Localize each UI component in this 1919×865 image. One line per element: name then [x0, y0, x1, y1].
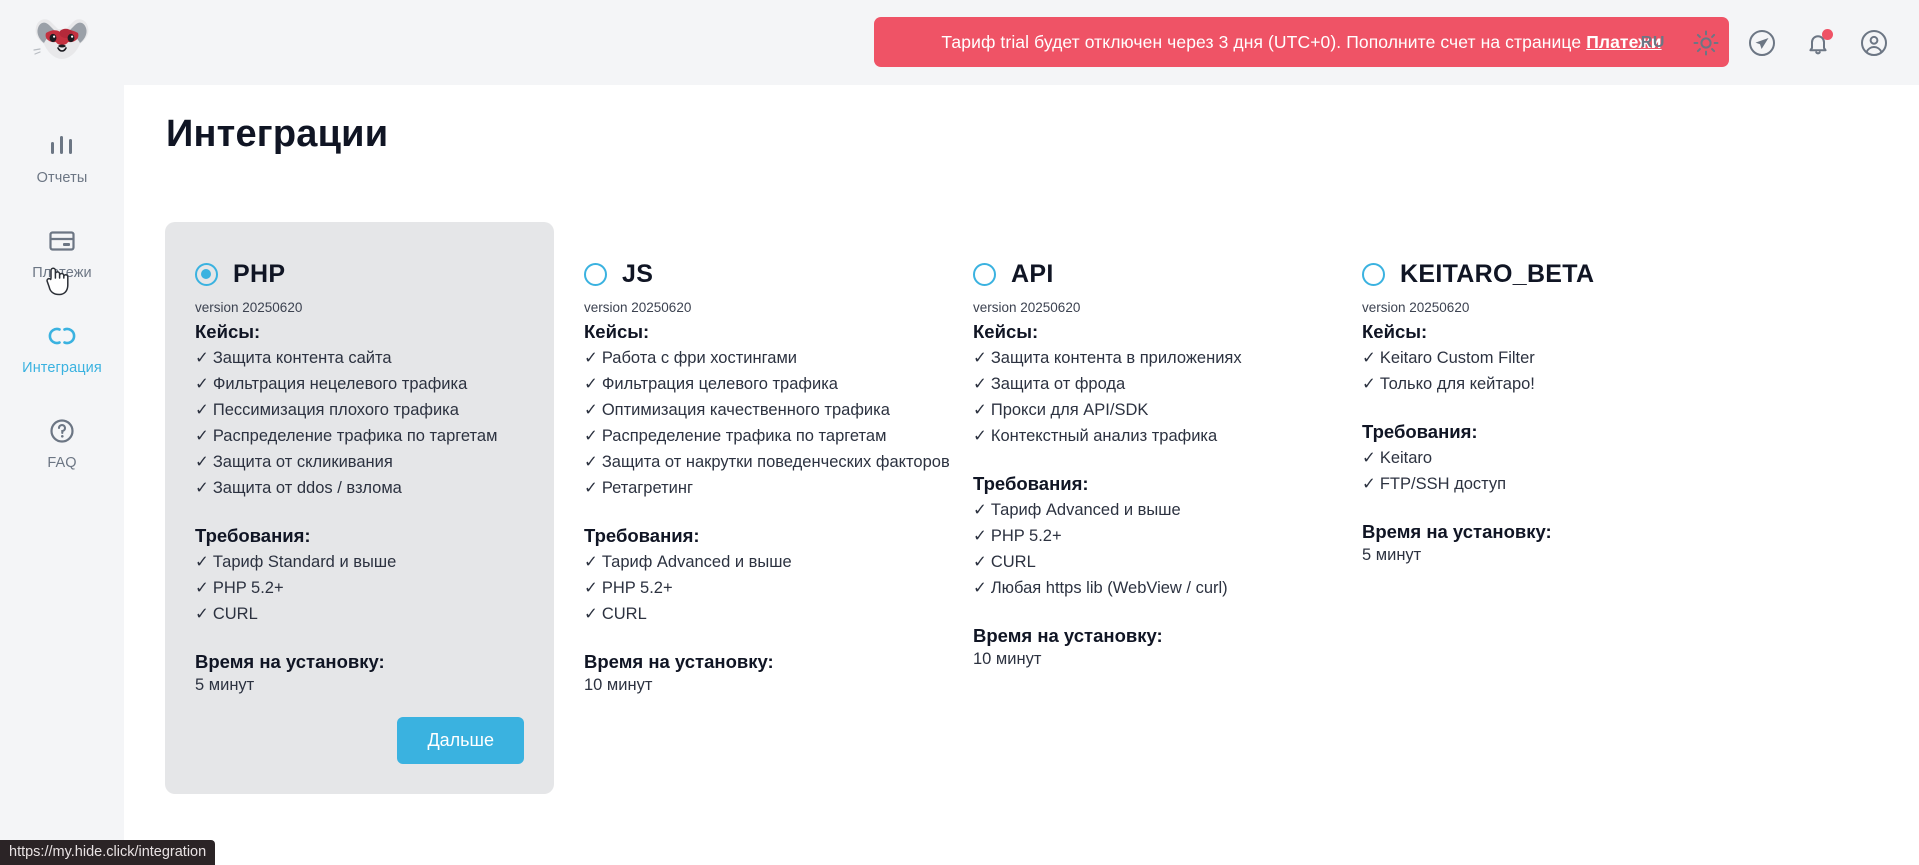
check-icon: ✓	[584, 553, 598, 571]
card-title: PHP	[233, 260, 285, 289]
radio-php[interactable]	[195, 263, 218, 286]
card-version: version 20250620	[584, 300, 913, 315]
list-item: ✓Защита от накрутки поведенческих фактор…	[584, 449, 913, 475]
install-time-heading: Время на установку:	[1362, 521, 1691, 543]
card-header: KEITARO_BETA	[1362, 259, 1691, 289]
list-item: ✓Защита от скликивания	[195, 449, 524, 475]
cases-list: ✓Keitaro Custom Filter ✓Только для кейта…	[1362, 345, 1691, 397]
card-title: JS	[622, 260, 653, 289]
list-item: ✓Пессимизация плохого трафика	[195, 397, 524, 423]
sidebar-nav: Отчеты Платежи	[0, 119, 124, 499]
question-circle-icon	[45, 414, 79, 448]
install-time-heading: Время на установку:	[195, 651, 524, 673]
check-icon: ✓	[973, 527, 987, 545]
check-icon: ✓	[584, 401, 598, 419]
card-title: KEITARO_BETA	[1400, 260, 1594, 289]
status-bar-url: https://my.hide.click/integration	[0, 840, 215, 865]
list-item: ✓Keitaro	[1362, 445, 1691, 471]
check-icon: ✓	[1362, 375, 1376, 393]
sidebar-item-label: Интеграция	[22, 360, 102, 376]
requirements-list: ✓Тариф Standard и выше ✓PHP 5.2+ ✓CURL	[195, 549, 524, 627]
list-item: ✓Защита контента в приложениях	[973, 345, 1302, 371]
sidebar-item-faq[interactable]: FAQ	[0, 404, 124, 481]
list-item: ✓Защита от ddos / взлома	[195, 475, 524, 501]
bar-chart-icon	[45, 129, 79, 163]
install-time-value: 10 минут	[584, 676, 913, 695]
list-item: ✓Защита контента сайта	[195, 345, 524, 371]
integration-card-js[interactable]: JS version 20250620 Кейсы: ✓Работа с фри…	[554, 222, 943, 794]
link-icon	[45, 319, 79, 353]
list-item: ✓Фильтрация целевого трафика	[584, 371, 913, 397]
radio-keitaro-beta[interactable]	[1362, 263, 1385, 286]
radio-js[interactable]	[584, 263, 607, 286]
integration-card-php[interactable]: PHP version 20250620 Кейсы: ✓Защита конт…	[165, 222, 554, 794]
list-item: ✓Оптимизация качественного трафика	[584, 397, 913, 423]
sidebar-item-label: Платежи	[32, 265, 92, 281]
sidebar-item-reports[interactable]: Отчеты	[0, 119, 124, 196]
check-icon: ✓	[195, 553, 209, 571]
integration-cards: PHP version 20250620 Кейсы: ✓Защита конт…	[165, 222, 1885, 794]
check-icon: ✓	[584, 427, 598, 445]
check-icon: ✓	[195, 427, 209, 445]
check-icon: ✓	[973, 553, 987, 571]
list-item: ✓Любая https lib (WebView / curl)	[973, 575, 1302, 601]
language-switcher[interactable]: RU	[1641, 34, 1665, 52]
check-icon: ✓	[584, 375, 598, 393]
install-time-value: 10 минут	[973, 650, 1302, 669]
check-icon: ✓	[195, 479, 209, 497]
list-item: ✓Ретагретинг	[584, 475, 913, 501]
bell-icon[interactable]	[1803, 28, 1833, 58]
card-version: version 20250620	[195, 300, 524, 315]
check-icon: ✓	[195, 375, 209, 393]
list-item: ✓Фильтрация нецелевого трафика	[195, 371, 524, 397]
notification-badge-dot	[1822, 29, 1833, 40]
check-icon: ✓	[584, 579, 598, 597]
install-time-value: 5 минут	[195, 676, 524, 695]
list-item: ✓Контекстный анализ трафика	[973, 423, 1302, 449]
cases-list: ✓Работа с фри хостингами ✓Фильтрация цел…	[584, 345, 913, 501]
requirements-heading: Требования:	[1362, 421, 1691, 443]
list-item: ✓Только для кейтаро!	[1362, 371, 1691, 397]
integration-card-keitaro-beta[interactable]: KEITARO_BETA version 20250620 Кейсы: ✓Ke…	[1332, 222, 1721, 794]
list-item: ✓PHP 5.2+	[584, 575, 913, 601]
main-content: Интеграции PHP version 20250620 Кейсы: ✓…	[124, 85, 1919, 865]
requirements-heading: Требования:	[195, 525, 524, 547]
check-icon: ✓	[195, 453, 209, 471]
trial-warning-banner: Тариф trial будет отключен через 3 дня (…	[874, 17, 1729, 67]
check-icon: ✓	[1362, 349, 1376, 367]
list-item: ✓Работа с фри хостингами	[584, 345, 913, 371]
cases-heading: Кейсы:	[973, 321, 1302, 343]
list-item: ✓FTP/SSH доступ	[1362, 471, 1691, 497]
check-icon: ✓	[973, 375, 987, 393]
sidebar-item-payments[interactable]: Платежи	[0, 214, 124, 291]
list-item: ✓CURL	[195, 601, 524, 627]
page-title: Интеграции	[166, 113, 388, 156]
app-logo[interactable]	[30, 13, 94, 69]
app-root: Отчеты Платежи	[0, 0, 1919, 865]
next-button[interactable]: Дальше	[397, 717, 524, 764]
install-time-heading: Время на установку:	[973, 625, 1302, 647]
check-icon: ✓	[584, 605, 598, 623]
cases-heading: Кейсы:	[584, 321, 913, 343]
requirements-list: ✓Тариф Advanced и выше ✓PHP 5.2+ ✓CURL	[584, 549, 913, 627]
sidebar-item-label: Отчеты	[37, 170, 88, 186]
credit-card-icon	[45, 224, 79, 258]
check-icon: ✓	[195, 579, 209, 597]
check-icon: ✓	[973, 427, 987, 445]
check-icon: ✓	[1362, 449, 1376, 467]
sidebar-item-label: FAQ	[47, 455, 76, 471]
check-icon: ✓	[973, 401, 987, 419]
check-icon: ✓	[195, 401, 209, 419]
check-icon: ✓	[195, 605, 209, 623]
list-item: ✓Тариф Standard и выше	[195, 549, 524, 575]
card-header: JS	[584, 259, 913, 289]
list-item: ✓Тариф Advanced и выше	[973, 497, 1302, 523]
check-icon: ✓	[584, 349, 598, 367]
sun-icon[interactable]	[1691, 28, 1721, 58]
top-bar-actions: RU	[1641, 0, 1889, 85]
card-version: version 20250620	[1362, 300, 1691, 315]
card-title: API	[1011, 260, 1054, 289]
list-item: ✓Тариф Advanced и выше	[584, 549, 913, 575]
top-bar: Тариф trial будет отключен через 3 дня (…	[124, 0, 1919, 85]
requirements-heading: Требования:	[584, 525, 913, 547]
list-item: ✓Распределение трафика по таргетам	[584, 423, 913, 449]
check-icon: ✓	[584, 479, 598, 497]
card-version: version 20250620	[973, 300, 1302, 315]
cases-list: ✓Защита контента сайта ✓Фильтрация нецел…	[195, 345, 524, 501]
list-item: ✓CURL	[584, 601, 913, 627]
check-icon: ✓	[973, 579, 987, 597]
cases-list: ✓Защита контента в приложениях ✓Защита о…	[973, 345, 1302, 449]
install-time-heading: Время на установку:	[584, 651, 913, 673]
user-circle-icon[interactable]	[1859, 28, 1889, 58]
check-icon: ✓	[973, 349, 987, 367]
cases-heading: Кейсы:	[195, 321, 524, 343]
sidebar-item-integration[interactable]: Интеграция	[0, 309, 124, 386]
requirements-list: ✓Keitaro ✓FTP/SSH доступ	[1362, 445, 1691, 497]
list-item: ✓Keitaro Custom Filter	[1362, 345, 1691, 371]
install-time-value: 5 минут	[1362, 546, 1691, 565]
list-item: ✓CURL	[973, 549, 1302, 575]
check-icon: ✓	[1362, 475, 1376, 493]
card-header: API	[973, 259, 1302, 289]
list-item: ✓Защита от фрода	[973, 371, 1302, 397]
radio-api[interactable]	[973, 263, 996, 286]
cases-heading: Кейсы:	[1362, 321, 1691, 343]
banner-text: Тариф trial будет отключен через 3 дня (…	[941, 32, 1581, 53]
requirements-heading: Требования:	[973, 473, 1302, 495]
check-icon: ✓	[973, 501, 987, 519]
list-item: ✓Распределение трафика по таргетам	[195, 423, 524, 449]
sidebar: Отчеты Платежи	[0, 0, 124, 865]
card-actions: Дальше	[165, 695, 554, 794]
list-item: ✓PHP 5.2+	[195, 575, 524, 601]
list-item: ✓Прокси для API/SDK	[973, 397, 1302, 423]
integration-card-api[interactable]: API version 20250620 Кейсы: ✓Защита конт…	[943, 222, 1332, 794]
check-icon: ✓	[195, 349, 209, 367]
requirements-list: ✓Тариф Advanced и выше ✓PHP 5.2+ ✓CURL ✓…	[973, 497, 1302, 601]
list-item: ✓PHP 5.2+	[973, 523, 1302, 549]
card-header: PHP	[195, 259, 524, 289]
telegram-icon[interactable]	[1747, 28, 1777, 58]
check-icon: ✓	[584, 453, 598, 471]
